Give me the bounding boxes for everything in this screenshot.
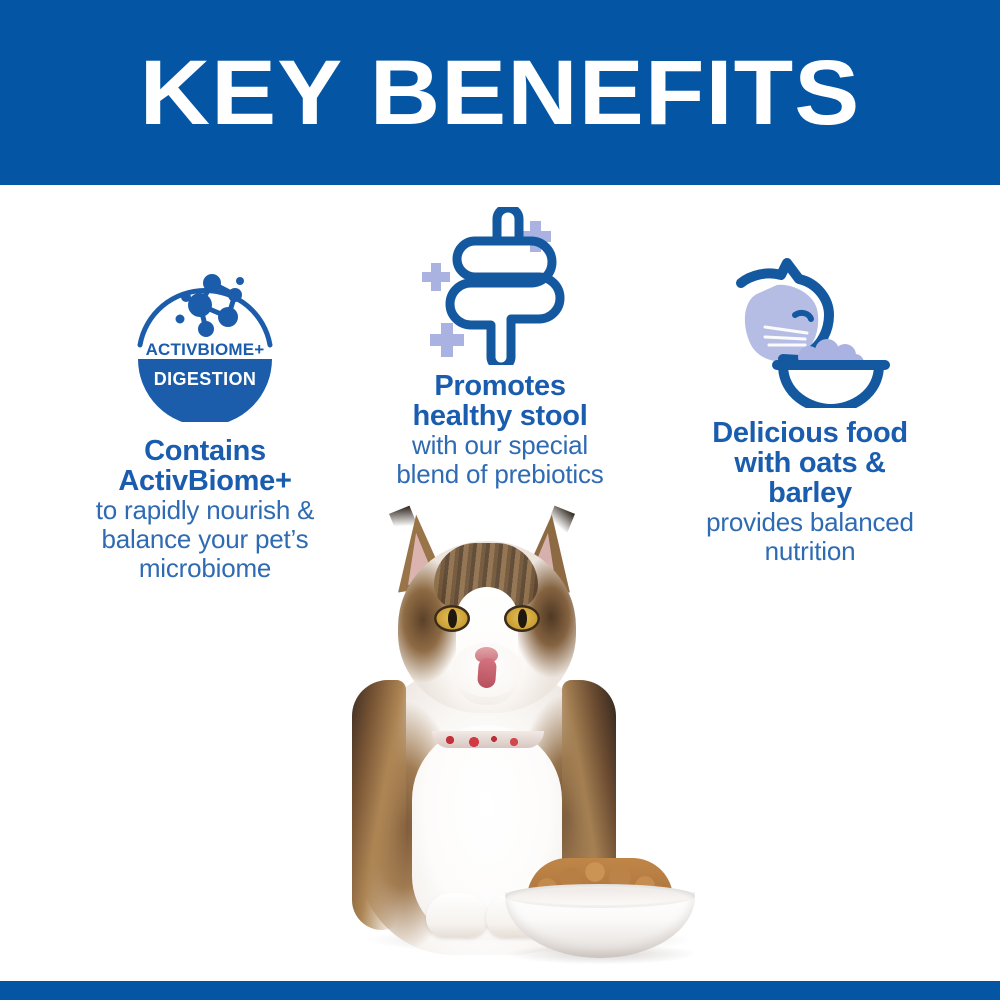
cat-pupil-right (518, 609, 527, 628)
subtext-line: with our special (360, 431, 640, 460)
benefit-column-healthy-stool: Promotes healthy stool with our special … (360, 205, 640, 489)
badge-bottom-label: DIGESTION (154, 369, 257, 389)
intestine-gut-icon (360, 205, 640, 365)
headline-line: ActivBiome+ (30, 466, 380, 496)
footer-bar (0, 981, 1000, 1000)
page-title: KEY BENEFITS (140, 47, 861, 139)
cat-collar (432, 731, 544, 748)
headline-line: Contains (30, 436, 380, 466)
benefit-subtext-activbiome: to rapidly nourish & balance your pet’s … (30, 496, 380, 582)
subtext-line: balance your pet’s (30, 525, 380, 554)
bowl-inner-surface (517, 888, 683, 905)
subtext-line: blend of prebiotics (360, 460, 640, 489)
key-benefits-page: KEY BENEFITS (0, 0, 1000, 1000)
cat-eating-from-bowl-icon (645, 248, 975, 408)
cat-paw-left (426, 893, 488, 937)
cat-body-edge-left (352, 680, 406, 930)
benefit-headline-healthy-stool: Promotes healthy stool (360, 371, 640, 431)
benefit-column-activbiome: ACTIVBIOME+ DIGESTION Contains ActivBiom… (30, 262, 380, 582)
cat-pupil-left (448, 609, 457, 628)
cat-tongue (477, 657, 497, 688)
headline-line: healthy stool (360, 401, 640, 431)
dry-kibble-food-bowl-photo (505, 858, 695, 963)
benefit-subtext-healthy-stool: with our special blend of prebiotics (360, 431, 640, 488)
header-banner: KEY BENEFITS (0, 0, 1000, 185)
cat-eye-right (504, 605, 540, 632)
headline-line: Promotes (360, 371, 640, 401)
cat-collar-pattern (432, 731, 544, 748)
benefit-headline-activbiome: Contains ActivBiome+ (30, 436, 380, 496)
activbiome-digestion-badge-icon: ACTIVBIOME+ DIGESTION (30, 262, 380, 422)
headline-line: Delicious food (645, 418, 975, 448)
subtext-line: microbiome (30, 554, 380, 583)
badge-top-label: ACTIVBIOME+ (146, 340, 265, 359)
headline-line: with oats & (645, 448, 975, 478)
cat-eye-left (434, 605, 470, 632)
subtext-line: to rapidly nourish & (30, 496, 380, 525)
